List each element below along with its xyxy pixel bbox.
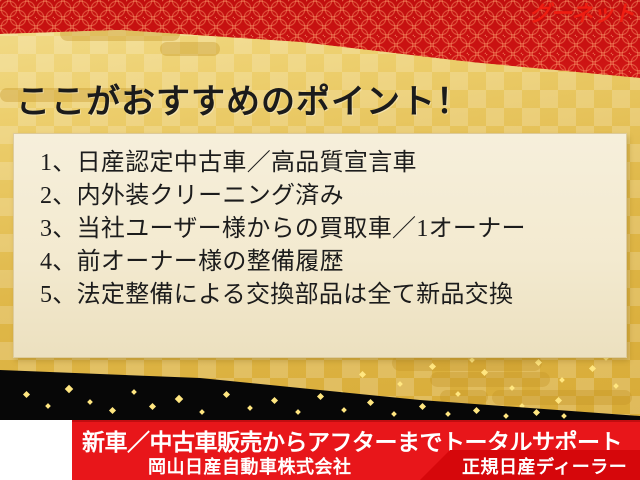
confetti-b4: [87, 399, 93, 405]
confetti-b15: [341, 407, 347, 413]
dealer-tag-label: 正規日産ディーラー: [462, 453, 627, 479]
confetti-b21: [503, 413, 509, 419]
cloud-motif-3: [160, 42, 220, 56]
confetti-b9: [199, 409, 205, 415]
confetti-b7: [149, 403, 156, 410]
confetti-b6: [131, 389, 137, 395]
cloud-motif-7: [492, 390, 632, 405]
cloud-motif-6: [430, 372, 550, 387]
confetti-b23: [561, 413, 567, 419]
confetti-b20: [473, 407, 480, 414]
confetti-b10: [223, 391, 230, 398]
confetti-b19: [445, 411, 451, 417]
confetti-b12: [271, 397, 278, 404]
confetti-b5: [109, 407, 116, 414]
list-item: 5、法定整備による交換部品は全て新品交換: [40, 279, 626, 312]
confetti-b8: [175, 395, 183, 403]
footer-company-name: 岡山日産自動車株式会社: [148, 453, 352, 479]
confetti-b3: [65, 385, 73, 393]
confetti-b13: [295, 409, 301, 415]
confetti-b17: [391, 411, 397, 417]
confetti-b16: [367, 399, 374, 406]
cloud-motif-8: [440, 390, 488, 404]
confetti-b18: [419, 403, 426, 410]
confetti-b1: [23, 391, 30, 398]
confetti-b11: [247, 405, 253, 411]
confetti-b22: [533, 409, 540, 416]
footer-banner: NISSAN 新車／中古車販売からアフターまでトータルサポート 岡山日産自動車株…: [0, 420, 640, 480]
page-title: ここがおすすめのポイント！: [16, 74, 471, 123]
list-item: 3、当社ユーザー様からの買取車／1オーナー: [40, 213, 626, 246]
confetti-b2: [45, 403, 51, 409]
list-item: 2、内外装クリーニング済み: [40, 180, 626, 213]
confetti-b14: [317, 393, 324, 400]
promo-banner-image: グーネット: [0, 0, 640, 480]
site-watermark: グーネット: [529, 4, 634, 26]
list-item: 4、前オーナー様の整備履歴: [40, 246, 626, 279]
list-item: 1、日産認定中古車／高品質宣言車: [40, 147, 626, 180]
points-panel: 1、日産認定中古車／高品質宣言車 2、内外装クリーニング済み 3、当社ユーザー様…: [13, 133, 627, 358]
